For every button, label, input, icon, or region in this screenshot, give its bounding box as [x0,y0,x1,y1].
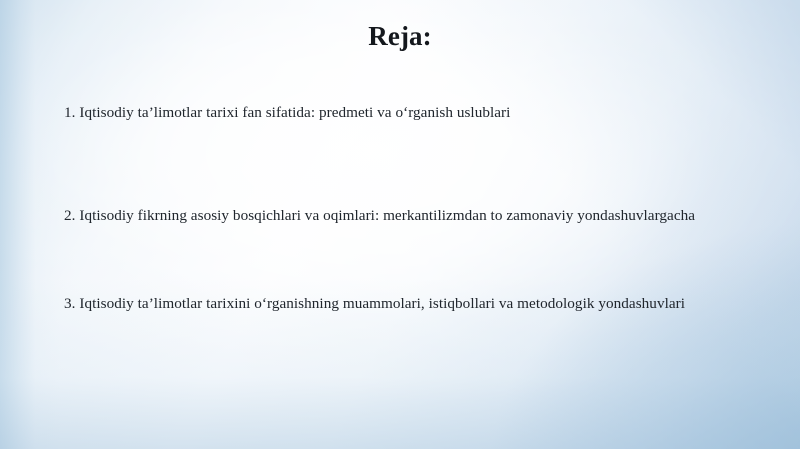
slide-content: Reja: 1. Iqtisodiy ta’limotlar tarixi fa… [0,0,800,449]
agenda-list: 1. Iqtisodiy ta’limotlar tarixi fan sifa… [64,104,696,314]
agenda-item: 3. Iqtisodiy ta’limotlar tarixini o‘rgan… [64,295,696,314]
presentation-slide: Reja: 1. Iqtisodiy ta’limotlar tarixi fa… [0,0,800,449]
agenda-item: 1. Iqtisodiy ta’limotlar tarixi fan sifa… [64,104,696,123]
agenda-item: 2. Iqtisodiy fikrning asosiy bosqichlari… [64,207,696,226]
slide-title: Reja: [0,21,800,52]
